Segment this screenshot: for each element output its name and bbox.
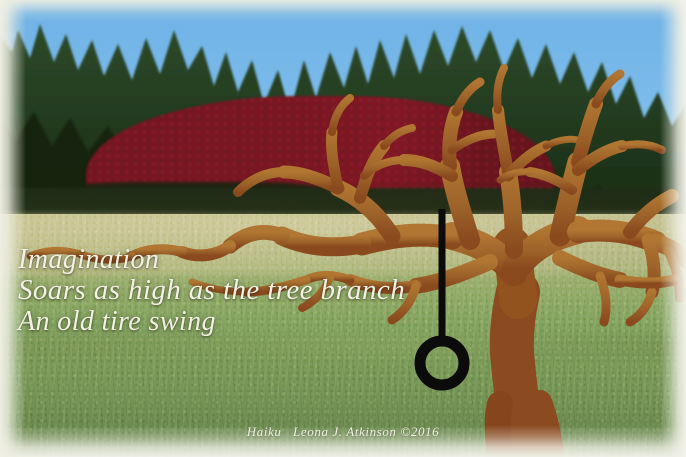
haiku-line-2: Soars as high as the tree branch — [18, 275, 405, 306]
haiku-text: Imagination Soars as high as the tree br… — [18, 244, 405, 337]
haiku-line-3: An old tire swing — [18, 306, 405, 337]
tire-ring — [420, 341, 464, 385]
artwork-canvas: Imagination Soars as high as the tree br… — [0, 0, 686, 457]
credit-line: Haiku Leona J. Atkinson ©2016 — [0, 424, 686, 440]
haiku-line-1: Imagination — [18, 244, 405, 275]
tire-swing — [0, 0, 686, 457]
